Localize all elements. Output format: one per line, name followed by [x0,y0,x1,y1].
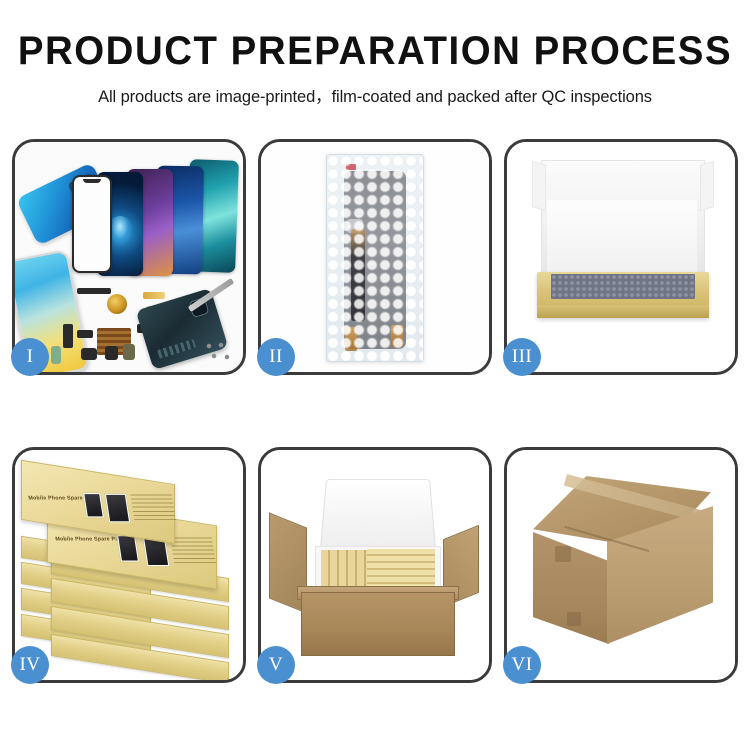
bubble-wrap-bag [326,154,424,362]
carton-handle-hole-bottom [567,612,581,626]
box-lid-image-2a [116,534,140,562]
gold-contact-left [345,327,357,351]
kraft-tray-box [537,272,709,318]
red-label-icon [346,164,356,170]
screen-flex-cable [351,229,365,321]
screws-icon [205,342,233,364]
page-subtitle: All products are image-printed，film-coat… [0,83,750,107]
step-panel-2: II [258,139,492,375]
page-header: PRODUCT PREPARATION PROCESS All products… [0,0,750,107]
carton-handle-hole-top [555,546,571,562]
flex-cable-1 [77,288,111,294]
step-badge-3: III [503,338,541,376]
step-badge-1: I [11,338,49,376]
camera-module-part [123,344,135,360]
page-title: PRODUCT PREPARATION PROCESS [15,30,735,72]
packed-gold-boxes-row-2 [367,549,435,589]
step-panel-6: VI [504,447,738,683]
carton-left-face [533,532,609,644]
flex-cable-2 [143,292,165,299]
flex-cable-4 [63,324,73,348]
step-2-image [261,142,489,372]
step-badge-2: II [257,338,295,376]
battery-connector-part [51,346,61,364]
box-lid-image-1a [82,492,105,518]
white-foam-sheet [547,200,697,274]
gold-contact-right [391,325,403,347]
retail-box-lid-1: Mobile Phone Spare Parts [21,460,175,544]
carton-body [301,592,455,656]
grey-foam-filling [551,274,695,299]
step-panel-5: V [258,447,492,683]
vibrator-part [105,346,118,360]
retail-box-stack: Mobile Phone Spare Parts Mobile Phone Sp… [21,464,239,670]
flex-cable-5 [77,330,93,338]
step-panel-1: I [12,139,246,375]
step-panel-4: Mobile Phone Spare Parts Mobile Phone Sp… [12,447,246,683]
tray-front-edge [537,305,709,318]
step-1-image [15,142,243,372]
step-4-image: Mobile Phone Spare Parts Mobile Phone Sp… [15,450,243,680]
box-lid-spec-lines-1 [130,494,176,520]
foam-lid-open [320,479,437,553]
notch-icon [83,179,101,183]
copper-coil-icon [107,294,127,314]
phone-front-glass [72,175,112,273]
step-3-image [507,142,735,372]
step-6-image [507,450,735,680]
step-badge-5: V [257,646,295,684]
step-5-image [261,450,489,680]
box-lid-spec-lines-2 [170,536,216,562]
box-lid-image-1b [104,493,131,523]
step-panel-3: III [504,139,738,375]
step-badge-6: VI [503,646,541,684]
speaker-part [81,348,97,360]
process-steps-grid: I II III [12,139,738,683]
step-badge-4: IV [11,646,49,684]
